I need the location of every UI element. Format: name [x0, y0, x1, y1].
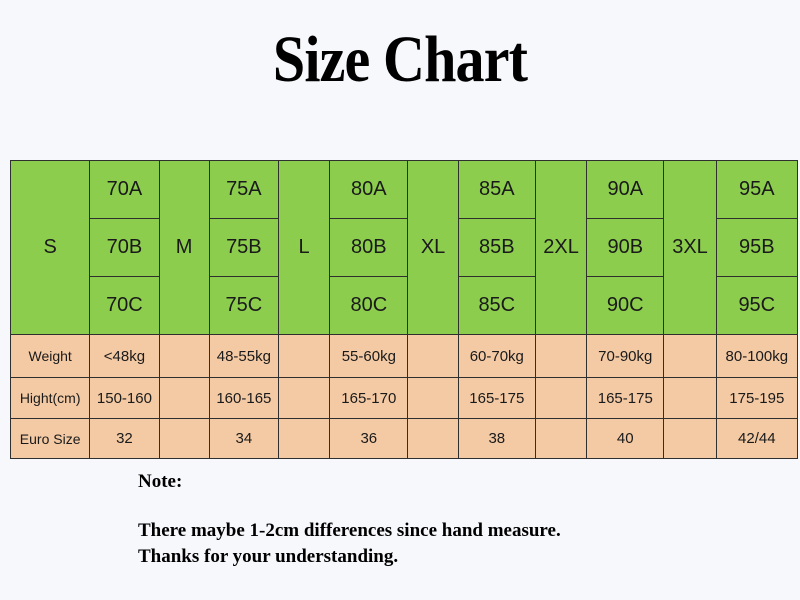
euro-cell-s: 32	[90, 419, 159, 459]
euro-cell-3xl: 42/44	[716, 419, 797, 459]
size-label-3xl: 3XL	[664, 161, 716, 335]
cup-cell-s-a: 70A	[90, 161, 159, 219]
cup-cell-xl-b: 85B	[458, 219, 535, 277]
table-row-weight: Weight <48kg 48-55kg 55-60kg 60-70kg 70-…	[11, 335, 798, 378]
euro-cell-l: 36	[330, 419, 408, 459]
cup-cell-m-a: 75A	[209, 161, 278, 219]
height-spacer-2xl	[535, 378, 586, 419]
height-cell-m: 160-165	[209, 378, 278, 419]
weight-cell-xl: 60-70kg	[458, 335, 535, 378]
weight-spacer-3xl	[664, 335, 716, 378]
euro-spacer-xl	[408, 419, 458, 459]
weight-cell-2xl: 70-90kg	[587, 335, 664, 378]
cup-cell-2xl-b: 90B	[587, 219, 664, 277]
height-cell-2xl: 165-175	[587, 378, 664, 419]
euro-spacer-l	[278, 419, 329, 459]
cup-cell-2xl-a: 90A	[587, 161, 664, 219]
weight-cell-3xl: 80-100kg	[716, 335, 797, 378]
note-line-2: Thanks for your understanding.	[138, 544, 561, 570]
cup-cell-s-b: 70B	[90, 219, 159, 277]
note-label: Note:	[138, 470, 561, 494]
height-spacer-xl	[408, 378, 458, 419]
cup-cell-3xl-a: 95A	[716, 161, 797, 219]
euro-cell-m: 34	[209, 419, 278, 459]
height-cell-s: 150-160	[90, 378, 159, 419]
euro-cell-2xl: 40	[587, 419, 664, 459]
weight-cell-m: 48-55kg	[209, 335, 278, 378]
row-header-height: Hight(cm)	[11, 378, 90, 419]
cup-cell-l-a: 80A	[330, 161, 408, 219]
cup-cell-xl-a: 85A	[458, 161, 535, 219]
weight-spacer-2xl	[535, 335, 586, 378]
height-spacer-l	[278, 378, 329, 419]
page-title: Size Chart	[48, 24, 752, 96]
weight-cell-l: 55-60kg	[330, 335, 408, 378]
cup-cell-3xl-b: 95B	[716, 219, 797, 277]
table-row-euro-size: Euro Size 32 34 36 38 40 42/44	[11, 419, 798, 459]
weight-spacer-m	[159, 335, 209, 378]
cup-cell-3xl-c: 95C	[716, 277, 797, 335]
cup-cell-s-c: 70C	[90, 277, 159, 335]
table-row-cup-a: S 70A M 75A L 80A XL 85A 2XL 90A 3XL 95A	[11, 161, 798, 219]
size-label-l: L	[278, 161, 329, 335]
cup-cell-m-b: 75B	[209, 219, 278, 277]
euro-cell-xl: 38	[458, 419, 535, 459]
euro-spacer-2xl	[535, 419, 586, 459]
height-cell-3xl: 175-195	[716, 378, 797, 419]
cup-cell-2xl-c: 90C	[587, 277, 664, 335]
weight-spacer-l	[278, 335, 329, 378]
size-label-xl: XL	[408, 161, 458, 335]
height-spacer-m	[159, 378, 209, 419]
height-cell-l: 165-170	[330, 378, 408, 419]
cup-cell-m-c: 75C	[209, 277, 278, 335]
cup-cell-xl-c: 85C	[458, 277, 535, 335]
height-spacer-3xl	[664, 378, 716, 419]
height-cell-xl: 165-175	[458, 378, 535, 419]
weight-cell-s: <48kg	[90, 335, 159, 378]
euro-spacer-3xl	[664, 419, 716, 459]
size-label-2xl: 2XL	[535, 161, 586, 335]
note-text: There maybe 1-2cm differences since hand…	[138, 518, 561, 570]
note-block: Note: There maybe 1-2cm differences sinc…	[138, 470, 561, 570]
weight-spacer-xl	[408, 335, 458, 378]
size-chart-table: S 70A M 75A L 80A XL 85A 2XL 90A 3XL 95A…	[10, 160, 798, 459]
cup-cell-l-c: 80C	[330, 277, 408, 335]
euro-spacer-m	[159, 419, 209, 459]
cup-cell-l-b: 80B	[330, 219, 408, 277]
size-label-m: M	[159, 161, 209, 335]
size-label-s: S	[11, 161, 90, 335]
table-row-height: Hight(cm) 150-160 160-165 165-170 165-17…	[11, 378, 798, 419]
note-line-1: There maybe 1-2cm differences since hand…	[138, 518, 561, 544]
row-header-weight: Weight	[11, 335, 90, 378]
row-header-euro-size: Euro Size	[11, 419, 90, 459]
